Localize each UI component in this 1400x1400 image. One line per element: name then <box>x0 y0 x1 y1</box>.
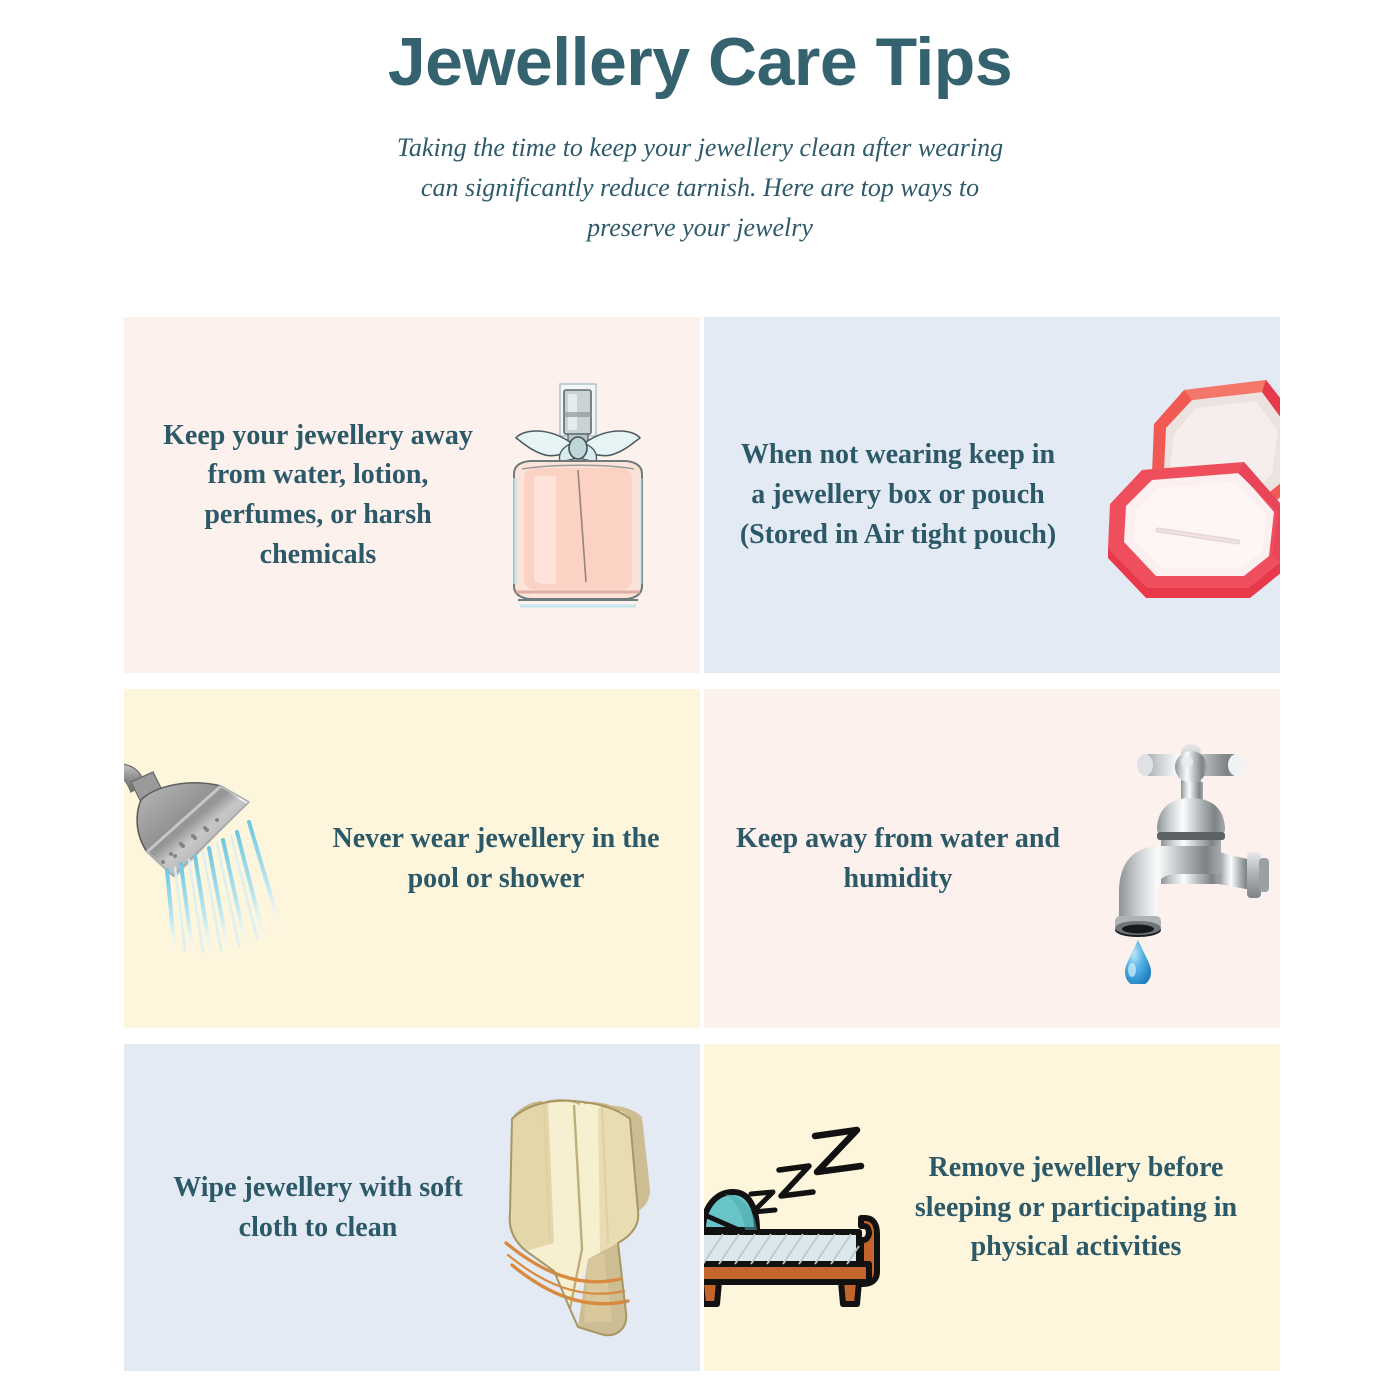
tip-card-1: Keep your jewellery away from water, lot… <box>124 317 700 673</box>
tip-card-5-text: Wipe jewellery with soft cloth to clean <box>138 1168 498 1248</box>
tip-card-3-text: Never wear jewellery in the pool or show… <box>316 819 676 899</box>
tip-card-4: Keep away from water and humidity <box>704 689 1280 1028</box>
sleeping-bed-icon <box>704 1108 888 1308</box>
page-subtitle: Taking the time to keep your jewellery c… <box>390 128 1010 248</box>
tip-card-4-text: Keep away from water and humidity <box>718 819 1078 899</box>
page-title: Jewellery Care Tips <box>0 24 1400 100</box>
tip-card-5-illustration <box>478 1093 680 1343</box>
infographic-header: Jewellery Care Tips Taking the time to k… <box>0 0 1400 248</box>
tip-card-5: Wipe jewellery with soft cloth to clean <box>124 1044 700 1371</box>
tip-card-4-illustration <box>1100 734 1280 984</box>
tip-card-2: When not wearing keep in a jewellery box… <box>704 317 1280 673</box>
tip-card-2-text: When not wearing keep in a jewellery box… <box>718 435 1078 554</box>
tip-card-6-text: Remove jewellery before sleeping or part… <box>896 1148 1256 1267</box>
tip-card-3: Never wear jewellery in the pool or show… <box>124 689 700 1028</box>
tip-card-1-text: Keep your jewellery away from water, lot… <box>138 416 498 575</box>
water-faucet-icon <box>1101 734 1280 984</box>
tip-card-2-illustration <box>1096 370 1280 600</box>
tip-card-1-illustration <box>476 370 678 620</box>
tip-card-6-illustration <box>704 1108 888 1308</box>
cleaning-cloth-icon <box>492 1093 667 1343</box>
perfume-bottle-icon <box>482 370 672 620</box>
tip-card-6: Remove jewellery before sleeping or part… <box>704 1044 1280 1371</box>
tip-card-3-illustration <box>124 744 304 974</box>
ring-box-icon <box>1096 370 1280 600</box>
tips-grid: Keep your jewellery away from water, lot… <box>124 317 1276 1371</box>
shower-head-icon <box>124 744 304 974</box>
